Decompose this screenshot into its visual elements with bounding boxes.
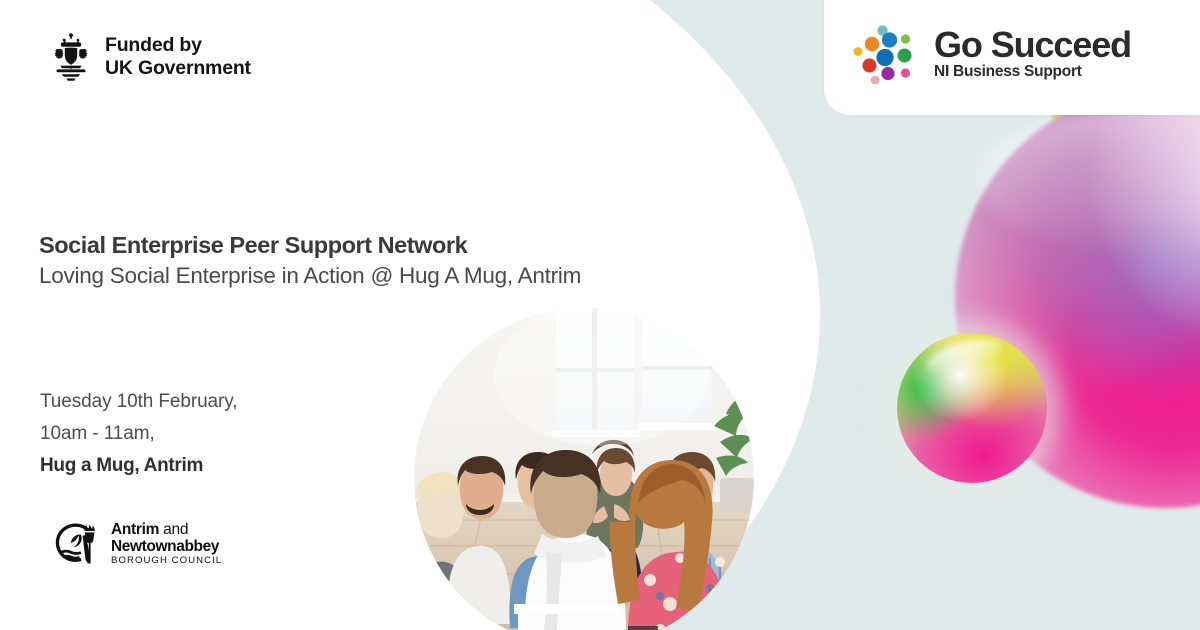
go-succeed-title: Go Succeed	[934, 27, 1131, 63]
event-date: Tuesday 10th February,	[40, 386, 237, 418]
council-name-and: and	[163, 521, 188, 538]
go-succeed-brand-card: Go Succeed NI Business Support	[824, 0, 1200, 115]
event-title: Social Enterprise Peer Support Network	[39, 231, 581, 261]
funded-by-uk-government-logo: Funded by UK Government	[48, 31, 251, 83]
council-line1: Antrim and	[111, 522, 222, 538]
poster-canvas: Funded by UK Government	[0, 0, 1200, 630]
event-subtitle: Loving Social Enterprise in Action @ Hug…	[39, 261, 581, 290]
antrim-newtownabbey-crest-icon	[52, 516, 104, 572]
council-line3: BOROUGH COUNCIL	[111, 556, 222, 566]
go-succeed-dots-icon	[852, 22, 920, 84]
group-support-circle-photo	[414, 308, 754, 630]
antrim-newtownabbey-council-logo: Antrim and Newtownabbey BOROUGH COUNCIL	[52, 516, 222, 572]
funded-by-line2: UK Government	[105, 57, 251, 79]
funded-by-label: Funded by UK Government	[105, 34, 251, 79]
event-venue: Hug a Mug, Antrim	[40, 450, 237, 482]
event-time: 10am - 11am,	[40, 418, 237, 450]
event-details: Tuesday 10th February, 10am - 11am, Hug …	[40, 386, 237, 482]
go-succeed-subtitle: NI Business Support	[934, 64, 1131, 80]
council-name-antrim: Antrim	[111, 521, 159, 538]
funded-by-line1: Funded by	[105, 34, 202, 56]
event-headline: Social Enterprise Peer Support Network L…	[39, 231, 581, 290]
uk-royal-crest-icon	[48, 31, 94, 83]
council-line2: Newtownabbey	[111, 539, 222, 555]
